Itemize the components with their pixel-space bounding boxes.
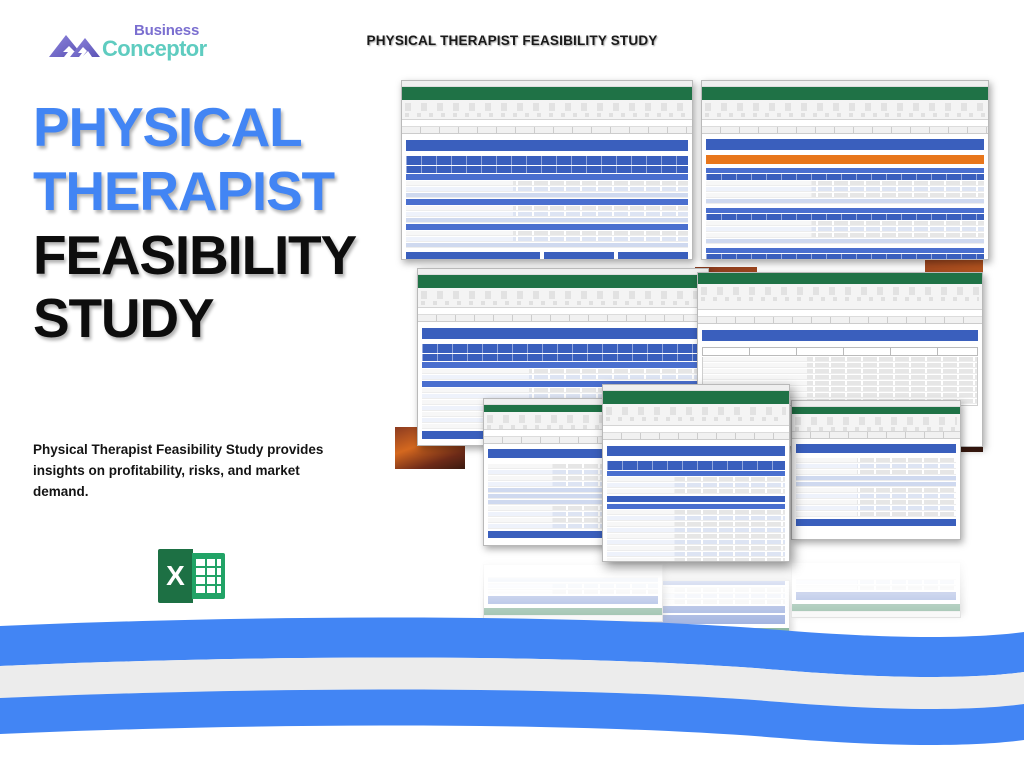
section-banner-orange — [706, 155, 984, 164]
table-rows — [706, 221, 984, 244]
page-header-title: PHYSICAL THERAPIST FEASIBILITY STUDY — [0, 33, 1024, 48]
ribbon-toolbar[interactable] — [402, 100, 692, 120]
sheet-title-banner — [796, 444, 956, 453]
table-rows — [796, 458, 956, 517]
group-header-row — [406, 199, 688, 205]
sheet-title-banner — [607, 446, 785, 456]
group-header-row — [607, 471, 785, 476]
group-header-row — [406, 224, 688, 230]
column-headers — [792, 432, 960, 439]
sheet-title-banner — [702, 330, 978, 341]
excel-file-icon: X — [158, 547, 228, 605]
hero-subtitle: Physical Therapist Feasibility Study pro… — [33, 440, 353, 503]
table-rows — [607, 510, 785, 562]
group-header-row — [706, 208, 984, 213]
group-header-row — [706, 248, 984, 253]
table-header-row — [706, 254, 984, 260]
sheet-title-banner — [706, 139, 984, 150]
sheet-title-banner — [422, 328, 704, 339]
sheet-area[interactable] — [402, 140, 692, 260]
formula-bar[interactable] — [418, 308, 708, 315]
table-rows — [406, 231, 688, 248]
formula-bar[interactable] — [698, 310, 982, 317]
hero-line-1: PHYSICAL — [33, 96, 393, 160]
formula-bar[interactable] — [402, 120, 692, 127]
screenshot-collage — [395, 72, 995, 572]
window-payroll-projection[interactable] — [701, 80, 989, 260]
ribbon-toolbar[interactable] — [698, 284, 982, 310]
sheet-area[interactable] — [792, 444, 960, 540]
hero-line-3: FEASIBILITY — [33, 224, 393, 288]
column-headers — [402, 127, 692, 134]
window-revenue-calculation[interactable] — [401, 80, 693, 260]
progression-badge — [618, 252, 688, 260]
window-income-statement[interactable] — [602, 384, 790, 562]
table-header-row — [706, 214, 984, 220]
table-rows — [406, 206, 688, 223]
table-rows — [706, 181, 984, 204]
sheet-title-banner — [406, 140, 688, 151]
window-titlebar[interactable] — [702, 87, 988, 94]
hero-line-2: THERAPIST — [33, 160, 393, 224]
total-banner — [406, 252, 540, 260]
sheet-area[interactable] — [603, 446, 789, 562]
hero-line-4: STUDY — [33, 287, 393, 351]
decorative-wave-bands — [0, 608, 1024, 768]
table-rows — [422, 369, 704, 380]
table-header-row — [406, 156, 688, 165]
ribbon-toolbar[interactable] — [418, 288, 708, 308]
group-header-row — [607, 504, 785, 509]
total-banner — [607, 496, 785, 502]
ribbon-toolbar[interactable] — [603, 404, 789, 426]
ribbon-toolbar[interactable] — [702, 100, 988, 120]
hero-title-block: PHYSICAL THERAPIST FEASIBILITY STUDY — [33, 96, 393, 351]
ribbon-toolbar[interactable] — [792, 414, 960, 432]
window-titlebar[interactable] — [603, 391, 789, 398]
group-header-row — [422, 362, 704, 368]
table-rows — [406, 181, 688, 198]
column-headers — [702, 127, 988, 134]
column-headers — [603, 433, 789, 440]
window-cashflow[interactable] — [791, 400, 961, 540]
window-titlebar[interactable] — [418, 275, 708, 282]
sheet-area[interactable] — [702, 139, 988, 260]
table-subheader-row — [422, 354, 704, 361]
window-titlebar[interactable] — [792, 407, 960, 414]
column-headers — [418, 315, 708, 322]
column-headers — [698, 317, 982, 324]
excel-icon-grid — [192, 553, 225, 599]
table-header-row — [607, 461, 785, 470]
window-titlebar[interactable] — [402, 87, 692, 94]
group-header-row — [406, 174, 688, 180]
formula-bar[interactable] — [603, 426, 789, 433]
table-subheader-row — [406, 166, 688, 173]
table-header-row — [706, 174, 984, 180]
group-header-row — [706, 168, 984, 173]
progression-badge — [544, 252, 614, 260]
excel-icon-letter: X — [158, 549, 193, 603]
table-header-row — [422, 344, 704, 353]
table-rows — [607, 477, 785, 494]
total-banner — [796, 519, 956, 526]
formula-bar[interactable] — [702, 120, 988, 127]
ribbon-tabs[interactable] — [698, 273, 982, 284]
slide-canvas: Business Conceptor PHYSICAL THERAPIST FE… — [0, 0, 1024, 768]
table-header-row — [702, 347, 978, 356]
